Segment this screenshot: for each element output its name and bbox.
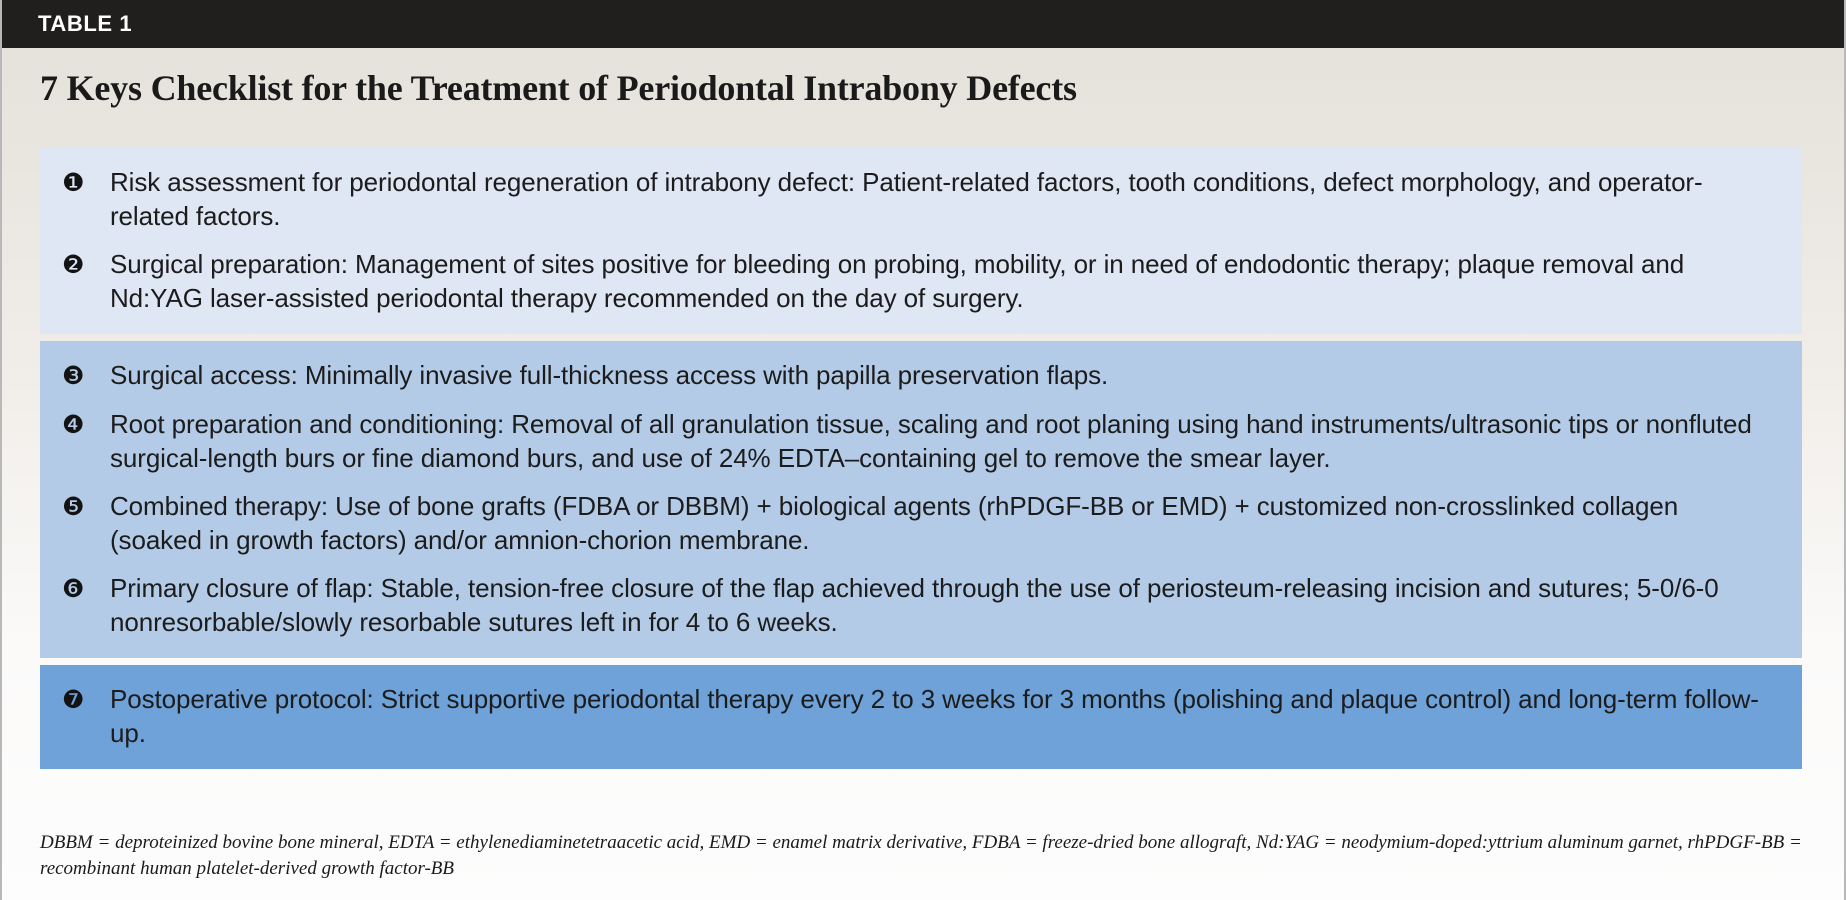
- checklist-block: ❶Risk assessment for periodontal regener…: [40, 148, 1802, 334]
- checklist-item-text: Postoperative protocol: Strict supportiv…: [110, 682, 1776, 750]
- checklist-item-text: Combined therapy: Use of bone grafts (FD…: [110, 489, 1776, 557]
- checklist-item-text: Surgical preparation: Management of site…: [110, 247, 1776, 315]
- numbered-circle-icon: ❷: [62, 247, 110, 282]
- table-label: TABLE 1: [0, 11, 132, 37]
- numbered-circle-icon: ❻: [62, 571, 110, 606]
- numbered-circle-icon: ❶: [62, 165, 110, 200]
- checklist-item-4: ❹Root preparation and conditioning: Remo…: [40, 400, 1802, 482]
- numbered-circle-icon: ❺: [62, 489, 110, 524]
- numbered-circle-icon: ❸: [62, 358, 110, 393]
- checklist-item-text: Risk assessment for periodontal regenera…: [110, 165, 1776, 233]
- checklist-block: ❼Postoperative protocol: Strict supporti…: [40, 665, 1802, 769]
- checklist-item-2: ❷Surgical preparation: Management of sit…: [40, 240, 1802, 322]
- table-label-bar: TABLE 1: [0, 0, 1846, 48]
- checklist-item-text: Primary closure of flap: Stable, tension…: [110, 571, 1776, 639]
- table-title: 7 Keys Checklist for the Treatment of Pe…: [40, 66, 1806, 110]
- table-figure: TABLE 1 7 Keys Checklist for the Treatme…: [0, 0, 1846, 900]
- checklist-item-5: ❺Combined therapy: Use of bone grafts (F…: [40, 482, 1802, 564]
- numbered-circle-icon: ❼: [62, 682, 110, 717]
- checklist: ❶Risk assessment for periodontal regener…: [40, 148, 1802, 769]
- checklist-item-text: Surgical access: Minimally invasive full…: [110, 358, 1776, 392]
- checklist-block: ❸Surgical access: Minimally invasive ful…: [40, 341, 1802, 658]
- checklist-item-7: ❼Postoperative protocol: Strict supporti…: [40, 675, 1802, 757]
- checklist-item-1: ❶Risk assessment for periodontal regener…: [40, 158, 1802, 240]
- checklist-item-3: ❸Surgical access: Minimally invasive ful…: [40, 351, 1802, 400]
- table-footnote: DBBM = deproteinized bovine bone mineral…: [40, 830, 1810, 882]
- checklist-item-text: Root preparation and conditioning: Remov…: [110, 407, 1776, 475]
- checklist-item-6: ❻Primary closure of flap: Stable, tensio…: [40, 564, 1802, 646]
- numbered-circle-icon: ❹: [62, 407, 110, 442]
